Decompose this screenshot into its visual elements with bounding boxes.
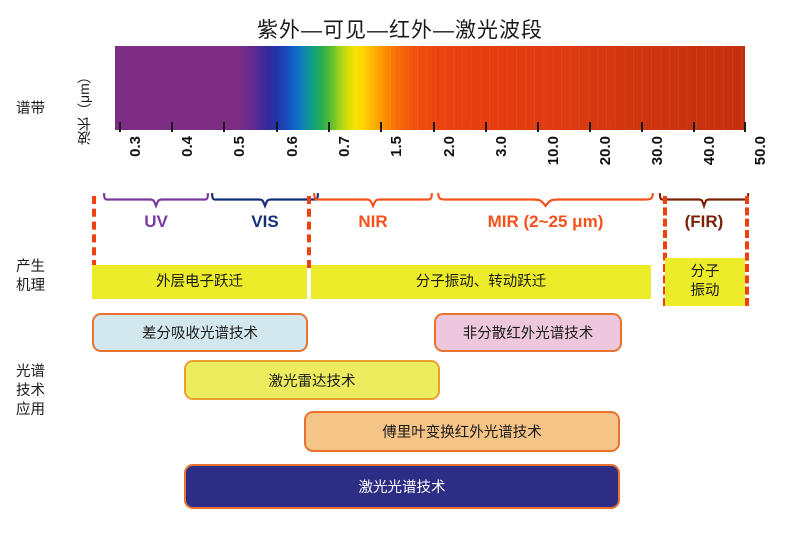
axis-tick <box>276 122 278 132</box>
axis-tick <box>641 122 643 132</box>
axis-tick-label: 50.0 <box>752 136 769 165</box>
axis-tick <box>328 122 330 132</box>
mechanism-box: 分子 振动 <box>665 258 745 306</box>
axis-title-wavelength: 波长（μm） <box>74 57 94 157</box>
mechanism-box: 分子振动、转动跃迁 <box>311 265 651 299</box>
separator-fir-end <box>745 196 749 306</box>
page-title: 紫外—可见—红外—激光波段 <box>0 14 800 44</box>
application-box: 激光雷达技术 <box>184 360 440 400</box>
axis-tick-label: 0.3 <box>127 136 144 157</box>
axis-tick-label: 2.0 <box>441 136 458 157</box>
axis-tick <box>433 122 435 132</box>
brace-fir <box>659 192 749 207</box>
axis-tick-label: 30.0 <box>649 136 666 165</box>
band-label-mir: MIR (2~25 μm) <box>436 212 655 232</box>
brace-nir <box>313 192 433 207</box>
axis-tick-label: 0.4 <box>179 136 196 157</box>
axis-tick <box>485 122 487 132</box>
axis-tick <box>537 122 539 132</box>
axis-tick-label: 20.0 <box>597 136 614 165</box>
axis-tick-label: 3.0 <box>493 136 510 157</box>
axis-tick-label: 0.5 <box>231 136 248 157</box>
axis-tick-label: 0.6 <box>284 136 301 157</box>
axis-tick <box>693 122 695 132</box>
axis-tick-label: 40.0 <box>701 136 718 165</box>
mechanism-box: 外层电子跃迁 <box>92 265 307 299</box>
brace-vis <box>211 192 319 207</box>
axis-tick <box>380 122 382 132</box>
separator-uv-start <box>92 196 96 268</box>
axis-tick-label: 10.0 <box>545 136 562 165</box>
axis-tick <box>171 122 173 132</box>
spectrum-bar <box>115 46 745 130</box>
diagram-canvas: 紫外—可见—红外—激光波段 谱带 产生 机理 光谱 技术 应用 波长（μm） 0… <box>0 0 800 533</box>
axis-tick-label: 1.5 <box>388 136 405 157</box>
application-box: 傅里叶变换红外光谱技术 <box>304 411 620 452</box>
brace-mir <box>436 192 655 207</box>
axis-tick <box>119 122 121 132</box>
axis-tick <box>744 122 746 132</box>
row-label-mechanism: 产生 机理 <box>16 258 45 296</box>
brace-uv <box>103 192 209 207</box>
application-box: 非分散红外光谱技术 <box>434 313 622 352</box>
application-box: 激光光谱技术 <box>184 464 620 509</box>
axis-tick-label: 0.7 <box>336 136 353 157</box>
band-label-uv: UV <box>103 212 209 232</box>
axis-tick <box>223 122 225 132</box>
band-label-vis: VIS <box>211 212 319 232</box>
band-label-fir: (FIR) <box>659 212 749 232</box>
spectrum-stripes <box>354 46 745 130</box>
separator-vis-nir <box>307 196 311 268</box>
row-label-band: 谱带 <box>16 100 45 119</box>
row-label-application: 光谱 技术 应用 <box>16 363 45 420</box>
band-label-nir: NIR <box>313 212 433 232</box>
application-box: 差分吸收光谱技术 <box>92 313 308 352</box>
axis-tick <box>589 122 591 132</box>
